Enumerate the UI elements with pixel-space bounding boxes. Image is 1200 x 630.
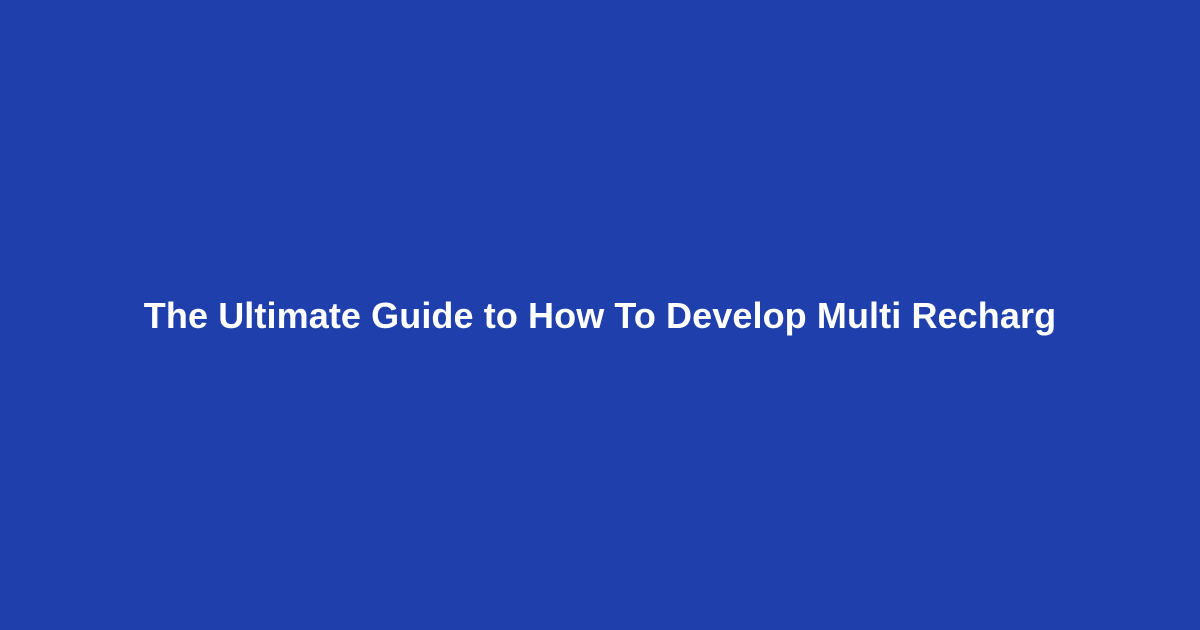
social-share-card: The Ultimate Guide to How To Develop Mul… (0, 0, 1200, 630)
card-headline: The Ultimate Guide to How To Develop Mul… (144, 293, 1056, 338)
card-content-container: The Ultimate Guide to How To Develop Mul… (0, 293, 1200, 338)
